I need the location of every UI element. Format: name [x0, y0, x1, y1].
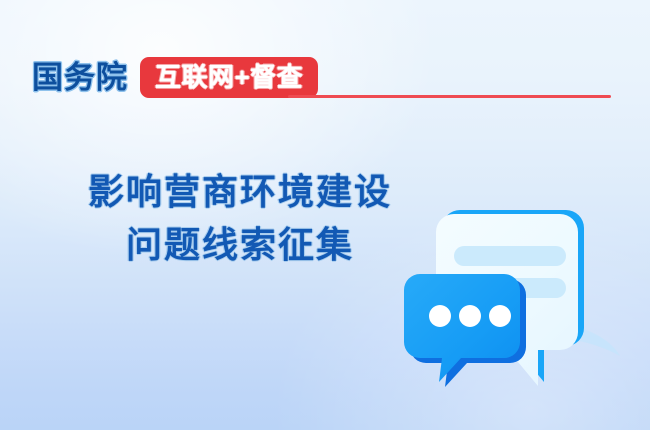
banner-header: 国务院 互联网+督查: [32, 54, 318, 100]
front-bubble-dot-3: [489, 305, 511, 327]
program-badge: 互联网+督查: [140, 57, 318, 98]
back-bubble-text-line-1: [454, 246, 566, 266]
chat-bubbles-illustration: [398, 196, 638, 406]
front-bubble-dot-2: [459, 305, 481, 327]
government-announcement-banner: 国务院 互联网+督查 影响营商环境建设 问题线索征集: [0, 0, 650, 430]
program-badge-label: 互联网+督查: [155, 64, 303, 90]
header-divider-line: [288, 95, 611, 98]
organization-name: 国务院: [32, 62, 140, 93]
front-bubble-dot-1: [429, 305, 451, 327]
